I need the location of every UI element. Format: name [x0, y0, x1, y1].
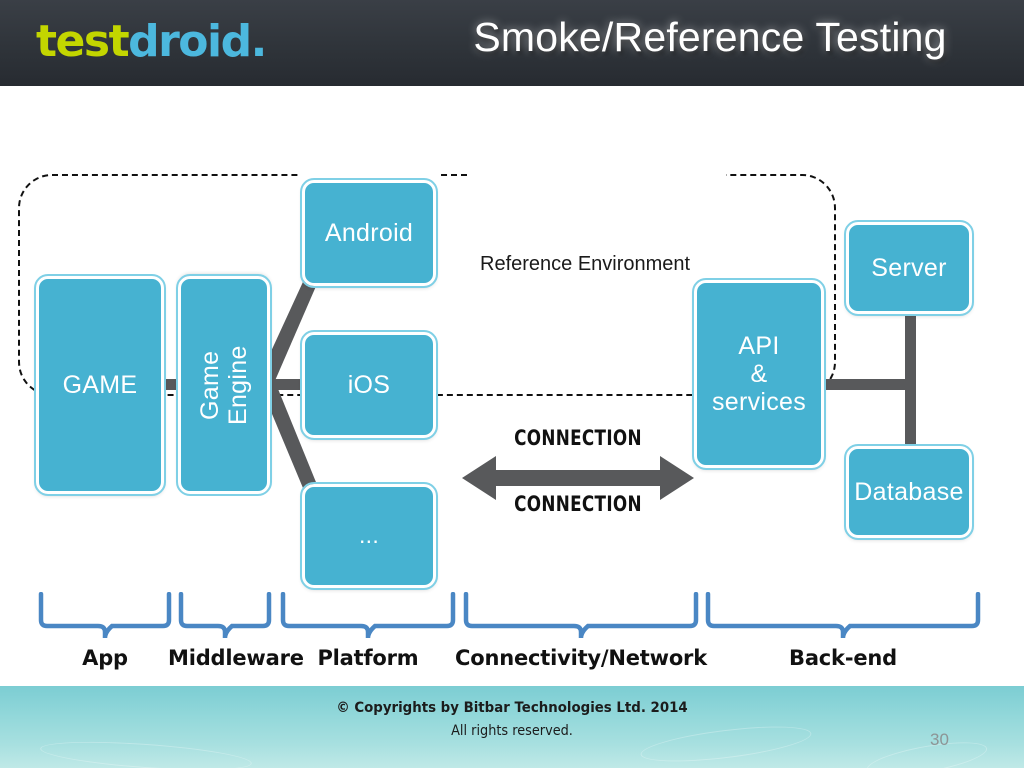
category-label-platform: Platform: [301, 646, 435, 670]
node-api-label-3: services: [712, 388, 806, 416]
connection-label-top-wrap: CONNECTION: [462, 426, 694, 452]
testdroid-logo: testdroid.: [36, 18, 266, 66]
node-api-label-1: API: [738, 332, 779, 360]
node-database-label: Database: [854, 478, 963, 506]
node-more-platforms-label: ...: [359, 523, 379, 549]
slide-title: Smoke/Reference Testing: [430, 14, 990, 61]
reference-environment-label: Reference Environment: [474, 253, 696, 276]
node-api-services[interactable]: API & services: [694, 280, 824, 468]
logo-text-droid: droid: [128, 16, 251, 67]
connection-label-bottom: CONNECTION: [485, 492, 671, 516]
dash-mask-top-android: [300, 170, 438, 179]
node-game-engine-label: Game Engine: [196, 345, 252, 425]
brace-backend: [705, 592, 981, 640]
category-label-app: App: [38, 646, 172, 670]
logo-text-test: test: [36, 16, 128, 67]
category-label-middleware: Middleware: [168, 646, 302, 670]
node-ios[interactable]: iOS: [302, 332, 436, 438]
connection-label-top: CONNECTION: [485, 426, 671, 450]
footer-decoration-3: [865, 736, 990, 768]
logo-text-dot: .: [251, 16, 266, 67]
slide-footer: © Copyrights by Bitbar Technologies Ltd.…: [0, 686, 1024, 768]
slide-header: testdroid. Smoke/Reference Testing: [0, 0, 1024, 86]
rights-text: All rights reserved.: [41, 723, 983, 739]
node-server-label: Server: [871, 254, 946, 282]
brace-platform: [280, 592, 456, 640]
brace-connectivity: [463, 592, 699, 640]
node-ios-label: iOS: [348, 371, 391, 399]
diagram-canvas: Reference Environment CONNECTION CONNECT…: [0, 86, 1024, 686]
dash-mask-label-gap: [468, 170, 726, 179]
node-game-engine[interactable]: Game Engine: [178, 276, 270, 494]
brace-middleware: [178, 592, 272, 640]
category-label-connectivity: Connectivity/Network: [451, 646, 711, 670]
connection-label-bottom-wrap: CONNECTION: [462, 492, 694, 518]
node-database[interactable]: Database: [846, 446, 972, 538]
node-android[interactable]: Android: [302, 180, 436, 286]
node-game[interactable]: GAME: [36, 276, 164, 494]
node-android-label: Android: [325, 219, 413, 247]
node-api-label-2: &: [751, 360, 768, 388]
node-more-platforms[interactable]: ...: [302, 484, 436, 588]
connector-api-to-backend: [824, 379, 916, 390]
category-label-backend: Back-end: [706, 646, 980, 670]
node-game-label: GAME: [63, 371, 138, 399]
brace-app: [38, 592, 172, 640]
page-number: 30: [930, 730, 949, 750]
copyright-text: © Copyrights by Bitbar Technologies Ltd.…: [41, 700, 983, 716]
node-server[interactable]: Server: [846, 222, 972, 314]
footer-decoration-2: [39, 737, 252, 768]
